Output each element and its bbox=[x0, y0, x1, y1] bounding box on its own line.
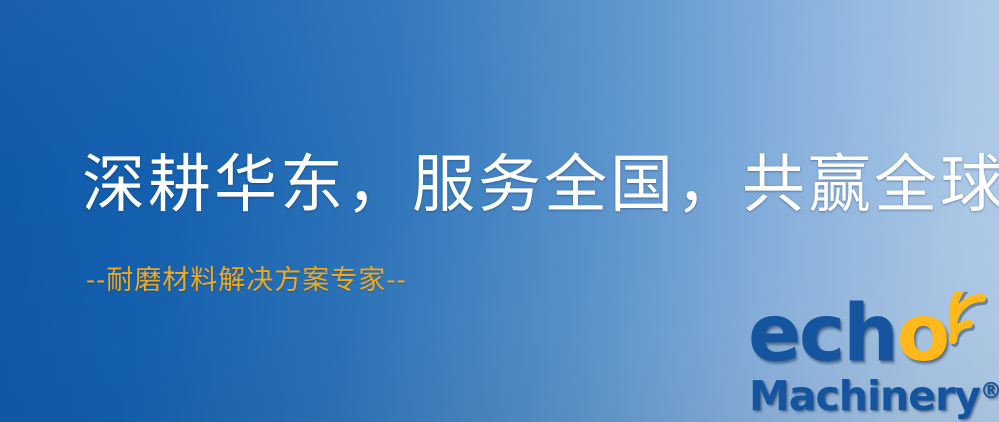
logo-tagline: Machinery® bbox=[749, 370, 999, 414]
logo-wordmark-gold-part: o bbox=[897, 289, 949, 379]
company-logo[interactable]: echo Machinery® bbox=[748, 296, 996, 418]
wifi-signal-icon bbox=[944, 292, 999, 350]
banner-headline: 深耕华东，服务全国，共赢全球 bbox=[82, 153, 999, 216]
registered-trademark-icon: ® bbox=[980, 379, 999, 404]
promo-banner: 深耕华东，服务全国，共赢全球 --耐磨材料解决方案专家-- echo bbox=[0, 0, 999, 422]
logo-tagline-text: Machinery bbox=[749, 372, 980, 420]
logo-wordmark-blue-part: ech bbox=[748, 289, 897, 379]
logo-wordmark: echo bbox=[748, 296, 948, 372]
banner-subtitle: --耐磨材料解决方案专家-- bbox=[86, 267, 407, 294]
